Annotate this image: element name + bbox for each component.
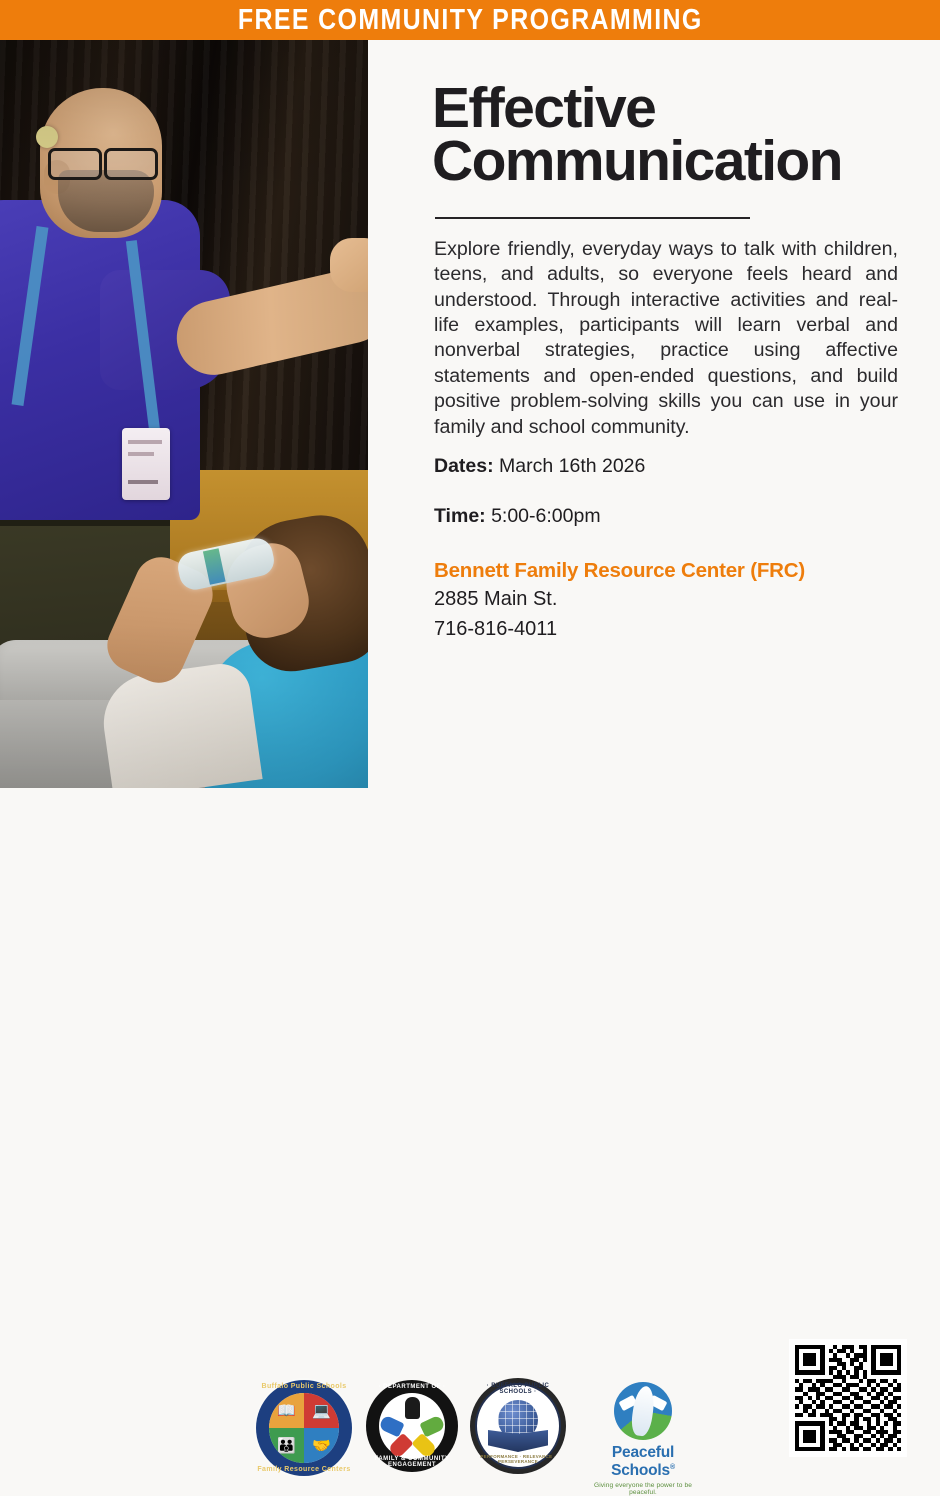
venue-block: Bennett Family Resource Center (FRC) 288…: [434, 559, 904, 643]
event-photo: [0, 40, 368, 788]
peaceful-schools-tagline: Giving everyone the power to be peaceful…: [583, 1482, 703, 1496]
dept-logo-figures: [379, 1393, 445, 1459]
dept-logo-text-top: · DEPARTMENT OF ·: [366, 1384, 458, 1390]
header-banner: FREE COMMUNITY PROGRAMMING: [0, 0, 940, 40]
description-text: Explore friendly, everyday ways to talk …: [434, 237, 898, 440]
helping-hands-icon: 🤝: [304, 1428, 339, 1463]
buffalo-public-schools-frc-logo: Buffalo Public Schools 📖 💻 👪 🤝 Family Re…: [256, 1380, 352, 1476]
time-label: Time:: [434, 505, 486, 527]
title-divider: [435, 217, 750, 219]
page-title-line2: Communication: [432, 135, 932, 188]
page-title-line1: Effective: [432, 82, 932, 135]
time-row: Time: 5:00-6:00pm: [434, 505, 904, 528]
time-value: 5:00-6:00pm: [491, 505, 601, 527]
logo-row: Buffalo Public Schools 📖 💻 👪 🤝 Family Re…: [0, 688, 940, 788]
dove-circle-icon: [614, 1382, 672, 1440]
computer-icon: 💻: [304, 1393, 339, 1428]
trademark-mark: ®: [670, 1464, 675, 1471]
qr-code-matrix: [795, 1345, 901, 1451]
peaceful-schools-title: Peaceful Schools®: [583, 1444, 703, 1480]
flyer-canvas: FREE COMMUNITY PROGRAMMING Effec: [0, 0, 940, 788]
venue-address: 2885 Main St.: [434, 586, 904, 613]
seal-text-bottom: PERFORMANCE · RELEVANCE · PERSEVERANCE: [470, 1454, 566, 1464]
frc-logo-quadrants: 📖 💻 👪 🤝: [269, 1393, 339, 1463]
venue-phone[interactable]: 716-816-4011: [434, 616, 904, 643]
qr-code[interactable]: [789, 1339, 907, 1457]
family-group-icon: 👪: [269, 1428, 304, 1463]
open-book-icon: 📖: [269, 1393, 304, 1428]
page-title: Effective Communication: [432, 82, 932, 188]
dates-label: Dates:: [434, 455, 494, 477]
seal-text-top: · BUFFALO PUBLIC SCHOOLS ·: [470, 1383, 566, 1395]
content-panel: Effective Communication Explore friendly…: [368, 40, 940, 788]
dates-value: March 16th 2026: [499, 455, 645, 477]
peaceful-schools-title-text: Peaceful Schools: [611, 1444, 674, 1479]
venue-name: Bennett Family Resource Center (FRC): [434, 559, 904, 583]
dates-row: Dates: March 16th 2026: [434, 455, 904, 478]
frc-logo-text-top: Buffalo Public Schools: [256, 1383, 352, 1390]
department-family-community-engagement-logo: · DEPARTMENT OF · FAMILY & COMMUNITY ENG…: [366, 1380, 458, 1472]
event-details: Dates: March 16th 2026 Time: 5:00-6:00pm: [434, 455, 904, 555]
header-banner-text: FREE COMMUNITY PROGRAMMING: [238, 4, 703, 37]
photo-vignette: [0, 40, 368, 788]
peaceful-schools-logo: Peaceful Schools® Giving everyone the po…: [583, 1382, 703, 1472]
dept-logo-text-bottom: FAMILY & COMMUNITY ENGAGEMENT: [366, 1456, 458, 1468]
buffalo-public-schools-seal: · BUFFALO PUBLIC SCHOOLS · PERFORMANCE ·…: [470, 1378, 566, 1474]
frc-logo-text-bottom: Family Resource Centers: [256, 1466, 352, 1473]
figure-icon-black: [405, 1397, 420, 1419]
